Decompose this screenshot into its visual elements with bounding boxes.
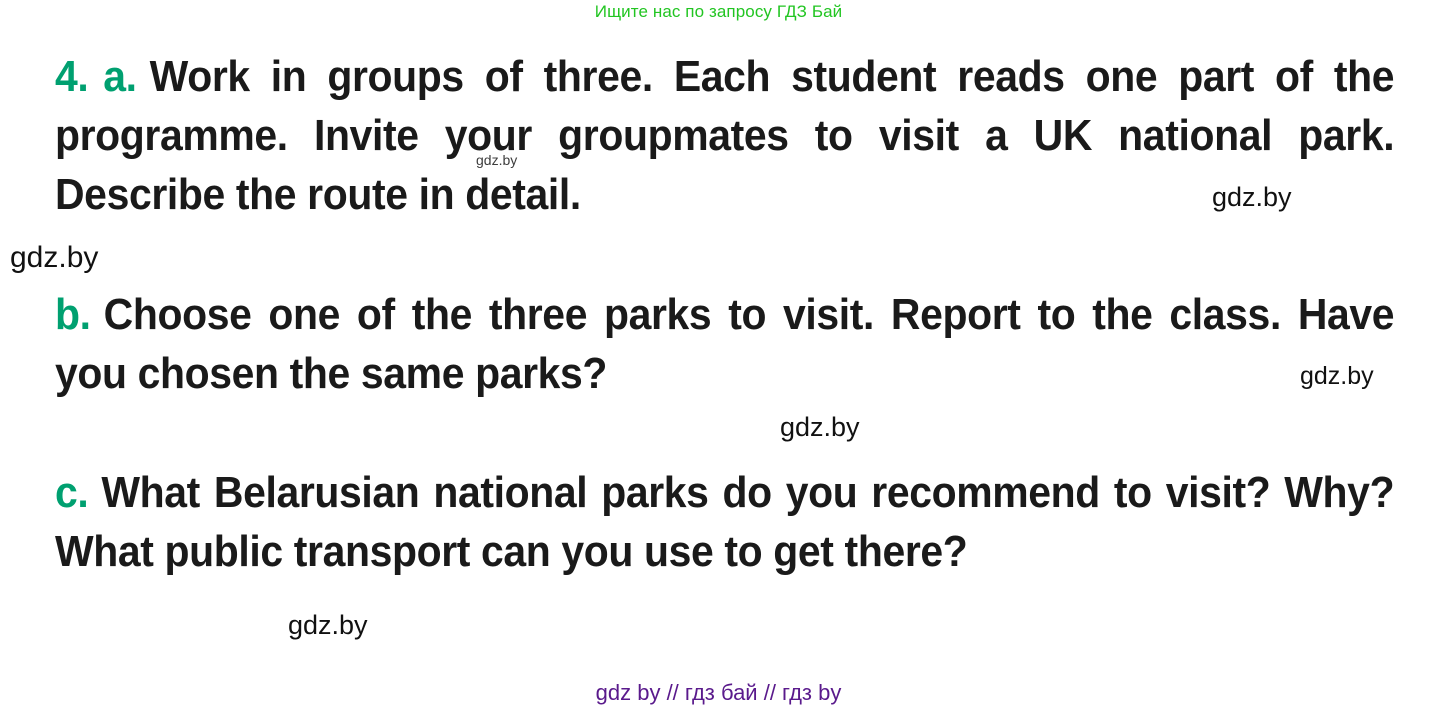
watermark-gdz: gdz.by [10,241,98,275]
item-marker-c: c. [55,468,88,517]
item-body-a: Work in groups of three. Each student re… [55,52,1394,219]
exercise-item-c: c.What Belarusian national parks do you … [55,463,1437,581]
item-marker-a: a. [103,52,136,101]
promo-banner: Ищите нас по запросу ГДЗ Бай [0,2,1437,22]
exercise-item-a-text: 4.a.Work in groups of three. Each studen… [55,47,1394,224]
footer-watermark: gdz by // гдз бай // гдз by [0,680,1437,706]
exercise-item-b-text: b.Choose one of the three parks to visit… [55,285,1394,403]
exercise-item-b: b.Choose one of the three parks to visit… [55,285,1437,403]
item-marker-b: b. [55,290,91,339]
page-root: Ищите нас по запросу ГДЗ Бай 4.a.Work in… [0,0,1437,711]
exercise-item-c-text: c.What Belarusian national parks do you … [55,463,1394,581]
watermark-gdz: gdz.by [476,152,517,168]
item-body-b: Choose one of the three parks to visit. … [55,290,1394,398]
item-body-c: What Belarusian national parks do you re… [55,468,1394,576]
watermark-gdz: gdz.by [288,610,368,641]
watermark-gdz: gdz.by [1212,182,1292,213]
watermark-gdz: gdz.by [1300,362,1374,391]
exercise-number: 4. [55,52,88,101]
watermark-gdz: gdz.by [780,412,860,443]
